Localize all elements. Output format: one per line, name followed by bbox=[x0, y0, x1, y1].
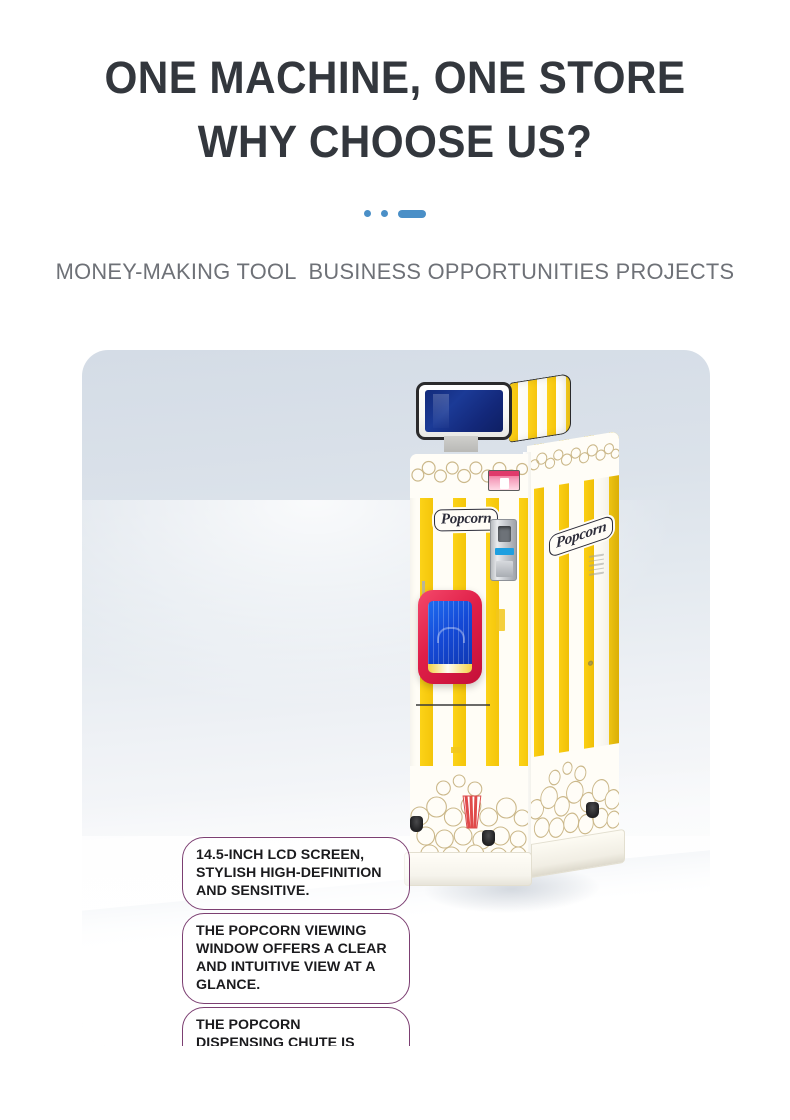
vent-slot bbox=[589, 558, 604, 562]
machine-head bbox=[416, 378, 568, 442]
dispensing-baffle bbox=[437, 627, 465, 643]
ad-panel-figure bbox=[500, 478, 509, 489]
ventilation-slots bbox=[589, 554, 604, 579]
striped-top-canopy bbox=[509, 373, 571, 443]
feature-callout-viewing-window: THE POPCORN VIEWING WINDOW OFFERS A CLEA… bbox=[182, 913, 410, 1004]
ad-panel-header-bar bbox=[489, 471, 519, 476]
qr-code-scanner-icon[interactable] bbox=[495, 548, 514, 555]
machine-base-front bbox=[404, 852, 532, 886]
advertising-lcd-panel[interactable] bbox=[488, 470, 520, 491]
vent-slot bbox=[589, 563, 604, 567]
caster-wheel bbox=[410, 816, 423, 832]
dispensing-window[interactable] bbox=[418, 590, 482, 684]
coin-acceptor[interactable] bbox=[490, 519, 517, 581]
machine-front-face: Popcorn bbox=[410, 454, 528, 862]
popcorn-bucket-icon bbox=[463, 796, 481, 828]
vent-slot bbox=[589, 572, 604, 576]
feature-callout-text: THE POPCORN DISPENSING CHUTE IS SEPARATE… bbox=[196, 1016, 397, 1046]
lcd-display-bezel bbox=[416, 382, 512, 440]
brand-logo-front: Popcorn bbox=[434, 508, 499, 531]
vent-slot bbox=[589, 554, 604, 558]
divider-dot-icon-2 bbox=[381, 210, 388, 217]
decorative-divider bbox=[0, 209, 790, 219]
feature-callout-list: 14.5-INCH LCD SCREEN, STYLISH HIGH-DEFIN… bbox=[182, 837, 410, 1046]
feature-callout-lcd-screen: 14.5-INCH LCD SCREEN, STYLISH HIGH-DEFIN… bbox=[182, 837, 410, 910]
page-header: ONE MACHINE, ONE STORE WHY CHOOSE US? MO… bbox=[0, 0, 790, 285]
front-accent-mark bbox=[451, 747, 462, 753]
feature-callout-text: THE POPCORN VIEWING WINDOW OFFERS A CLEA… bbox=[196, 922, 397, 994]
popcorn-vending-machine: Popcorn bbox=[400, 378, 632, 938]
page-title-line-2: WHY CHOOSE US? bbox=[24, 110, 767, 174]
product-image-panel: Popcorn bbox=[82, 350, 710, 1046]
coin-slot-icon[interactable] bbox=[498, 526, 511, 542]
coin-acceptor-body bbox=[496, 561, 513, 577]
divider-bar-icon bbox=[398, 210, 426, 218]
caster-wheel bbox=[586, 802, 599, 818]
feature-callout-text: 14.5-INCH LCD SCREEN, STYLISH HIGH-DEFIN… bbox=[196, 846, 397, 900]
screen-glare bbox=[433, 394, 449, 428]
front-accent-stripe bbox=[496, 609, 505, 631]
lcd-display-screen bbox=[425, 390, 503, 432]
brand-logo-side: Popcorn bbox=[549, 514, 614, 557]
chute-separator-line bbox=[416, 704, 490, 706]
vent-slot bbox=[589, 567, 604, 571]
door-lock-icon bbox=[588, 660, 593, 666]
caster-wheel bbox=[482, 830, 495, 846]
popcorn-pile-graphic-front bbox=[410, 766, 528, 862]
divider-dot-icon-1 bbox=[364, 210, 371, 217]
machine-side-face: Popcorn bbox=[527, 431, 619, 854]
page-title-line-1: ONE MACHINE, ONE STORE bbox=[24, 46, 767, 110]
dispensing-tray bbox=[428, 664, 472, 673]
feature-callout-dispensing-chute: THE POPCORN DISPENSING CHUTE IS SEPARATE… bbox=[182, 1007, 410, 1046]
page-subtitle: MONEY-MAKING TOOL BUSINESS OPPORTUNITIES… bbox=[12, 219, 778, 285]
page-title: ONE MACHINE, ONE STORE WHY CHOOSE US? bbox=[24, 46, 767, 175]
dispensing-window-glass bbox=[428, 601, 472, 673]
front-bottom-white-band bbox=[410, 766, 528, 862]
